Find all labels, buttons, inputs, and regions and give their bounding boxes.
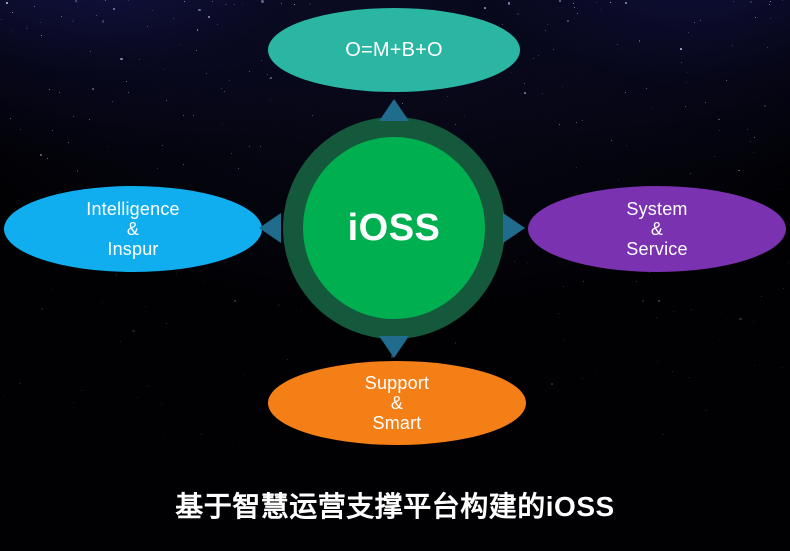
node-bottom[interactable]: Support & Smart	[268, 361, 526, 445]
arrow-left-icon	[259, 213, 281, 243]
node-bottom-line-1: Support	[365, 373, 429, 393]
diagram-caption: 基于智慧运营支撑平台构建的iOSS	[0, 485, 790, 525]
node-top-line-1: O=M+B+O	[345, 39, 443, 61]
arrow-right-icon	[503, 213, 525, 243]
node-right-line-1: System	[626, 199, 687, 219]
node-top[interactable]: O=M+B+O	[268, 8, 520, 92]
node-left-line-2: &	[127, 219, 139, 239]
node-right-line-2: &	[651, 219, 663, 239]
node-bottom-line-2: &	[391, 393, 403, 413]
node-bottom-line-3: Smart	[372, 413, 421, 433]
node-left-line-3: Inspur	[107, 239, 158, 259]
center-hub-label: iOSS	[283, 117, 505, 339]
node-left[interactable]: Intelligence & Inspur	[4, 186, 262, 272]
node-right-line-3: Service	[626, 239, 687, 259]
node-left-line-1: Intelligence	[86, 199, 179, 219]
diagram-canvas: iOSS O=M+B+O Intelligence & Inspur Syste…	[0, 0, 790, 551]
arrow-down-icon	[379, 336, 409, 358]
node-right[interactable]: System & Service	[528, 186, 786, 272]
